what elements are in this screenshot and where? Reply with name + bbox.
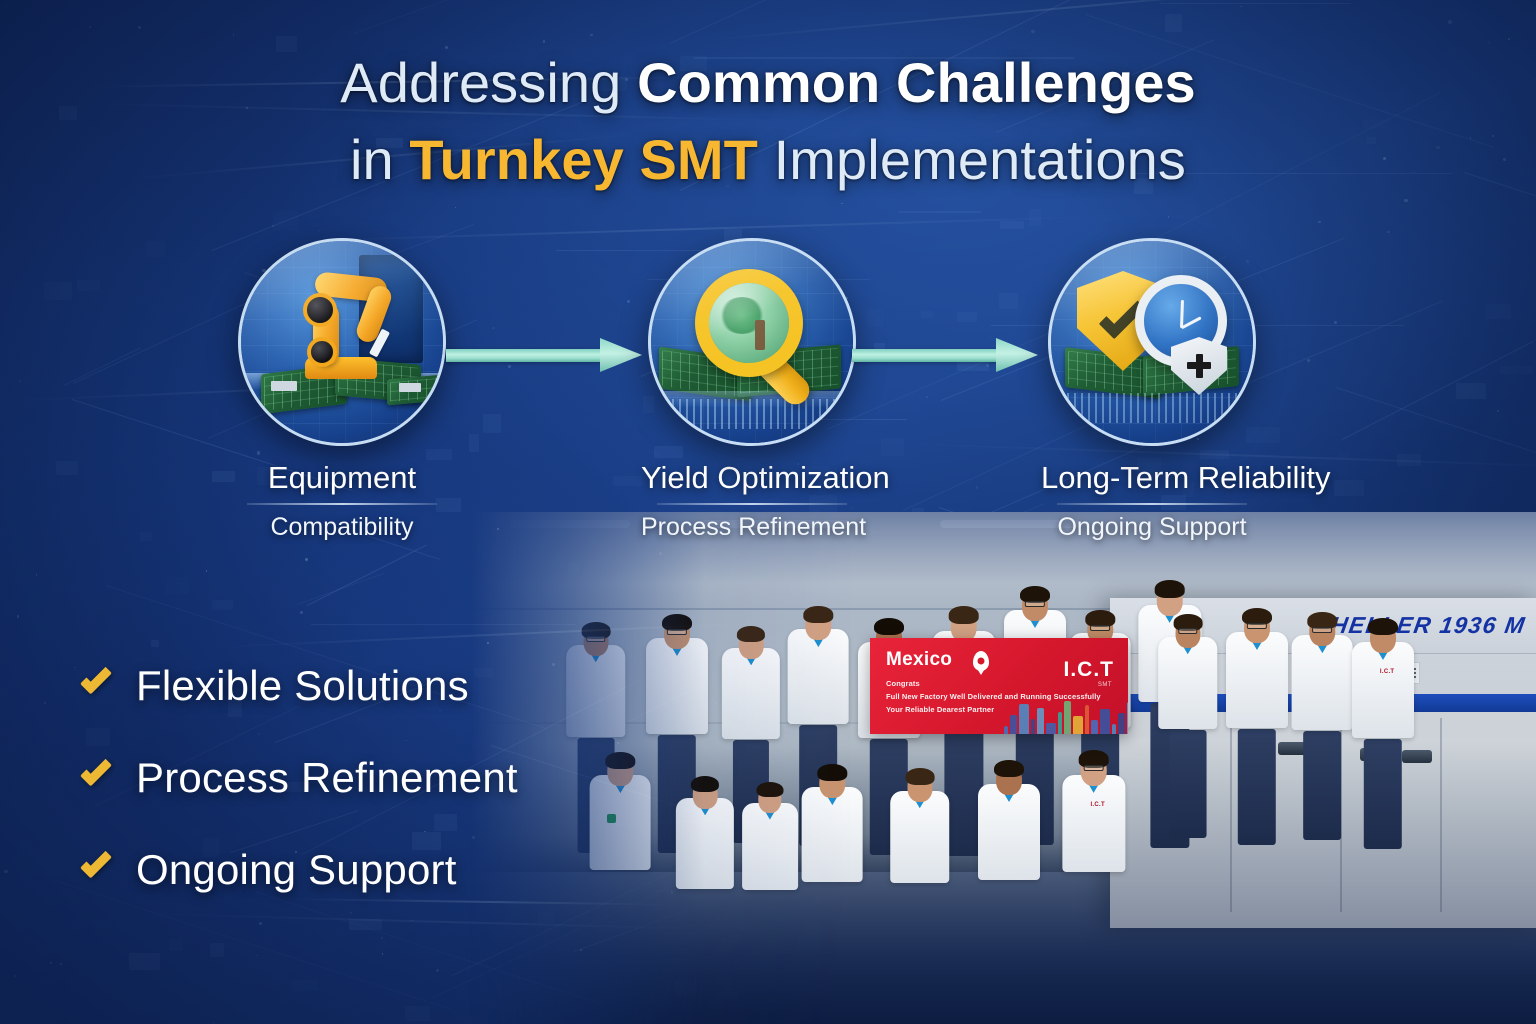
step-sublabel: Compatibility (231, 513, 453, 542)
robot-arm-pcb-icon (238, 238, 446, 446)
title-line-2-part-1: in (350, 128, 409, 191)
list-item-label: Flexible Solutions (136, 662, 469, 710)
list-item-label: Ongoing Support (136, 846, 457, 894)
right-arrow-icon (852, 338, 1038, 372)
banner-brand: I.C.T (1064, 658, 1115, 682)
step-label: Yield Optimization (641, 460, 863, 496)
check-icon (78, 757, 120, 799)
step-sublabel: Process Refinement (641, 513, 863, 542)
celebration-banner: Mexico Congrats Full New Factory Well De… (870, 638, 1128, 734)
step-divider (247, 503, 437, 505)
step-label: Long-Term Reliability (1041, 460, 1263, 496)
step-sublabel: Ongoing Support (1041, 513, 1263, 542)
banner-brand-sub: SMT (1098, 682, 1112, 688)
banner-country: Mexico (886, 649, 952, 671)
pipeline-step-yield[interactable]: Yield Optimization Process Refinement (641, 238, 863, 542)
list-item[interactable]: Process Refinement (78, 732, 518, 824)
slide-root: HELLER 1936 M I.C.TI.C.T Mexico (0, 0, 1536, 1024)
benefits-list: Flexible Solutions Process Refinement On… (78, 640, 518, 916)
pipeline-step-equipment[interactable]: Equipment Compatibility (231, 238, 453, 542)
list-item[interactable]: Ongoing Support (78, 824, 518, 916)
title-line-2: in Turnkey SMT Implementations (0, 121, 1536, 198)
title-line-1-part-2: Common Challenges (637, 51, 1196, 114)
factory-team-photo: HELLER 1936 M I.C.TI.C.T Mexico (470, 512, 1536, 1024)
pipeline-step-reliability[interactable]: Long-Term Reliability Ongoing Support (1041, 238, 1263, 542)
right-arrow-icon (446, 338, 642, 372)
title-line-2-part-3: Implementations (758, 128, 1186, 191)
step-label: Equipment (231, 460, 453, 496)
title-line-1: Addressing Common Challenges (0, 44, 1536, 121)
magnifier-pcb-icon (648, 238, 856, 446)
title-line-1-part-1: Addressing (340, 51, 637, 114)
step-divider (657, 503, 847, 505)
check-icon (78, 665, 120, 707)
list-item[interactable]: Flexible Solutions (78, 640, 518, 732)
list-item-label: Process Refinement (136, 754, 518, 802)
step-divider (1057, 503, 1247, 505)
city-skyline-graphic (1002, 696, 1122, 734)
banner-line-2: Your Reliable Dearest Partner (886, 705, 994, 714)
shield-check-clock-icon (1048, 238, 1256, 446)
page-title: Addressing Common Challenges in Turnkey … (0, 44, 1536, 199)
title-line-2-part-2: Turnkey SMT (409, 128, 758, 191)
process-pipeline: Equipment Compatibility (0, 238, 1536, 538)
check-icon (78, 849, 120, 891)
banner-congrats: Congrats (886, 679, 920, 688)
location-pin-icon (973, 651, 989, 671)
